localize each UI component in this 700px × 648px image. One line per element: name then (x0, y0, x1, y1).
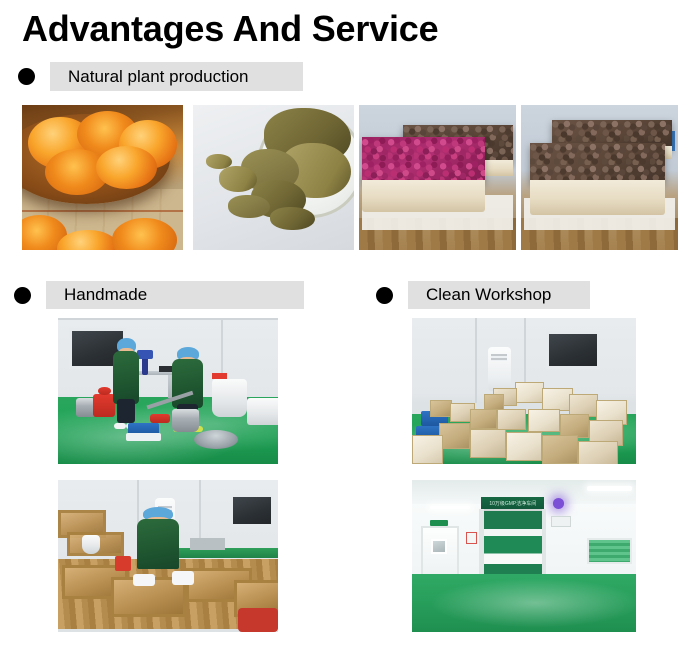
section-header-clean-workshop: Clean Workshop (376, 281, 590, 309)
photo-worker-wooden-molds (58, 480, 278, 632)
section-header-natural-plant-production: Natural plant production (18, 62, 303, 91)
section-label-clean-workshop: Clean Workshop (408, 281, 590, 309)
bullet-icon (376, 287, 393, 304)
bullet-icon (14, 287, 31, 304)
advantages-and-service-page: Advantages And Service Natural plant pro… (0, 0, 700, 648)
photo-dried-herbs-bowl (193, 105, 354, 250)
bullet-icon (18, 68, 35, 85)
door-sign-text: 10万级GMP洁净车间 (489, 500, 536, 507)
page-title: Advantages And Service (22, 8, 438, 50)
photo-soap-block-storage (412, 318, 636, 464)
photo-dried-marigold-flowers (22, 105, 183, 250)
section-label-natural-plant-production: Natural plant production (50, 62, 303, 91)
section-label-handmade: Handmade (46, 281, 304, 309)
photo-workers-weighing (58, 318, 278, 464)
photo-rose-buds-tray (359, 105, 516, 250)
photo-cleanroom-green-door: 10万级GMP洁净车间 (412, 480, 636, 632)
photo-dark-buds-tray (521, 105, 678, 250)
section-header-handmade: Handmade (14, 281, 304, 309)
